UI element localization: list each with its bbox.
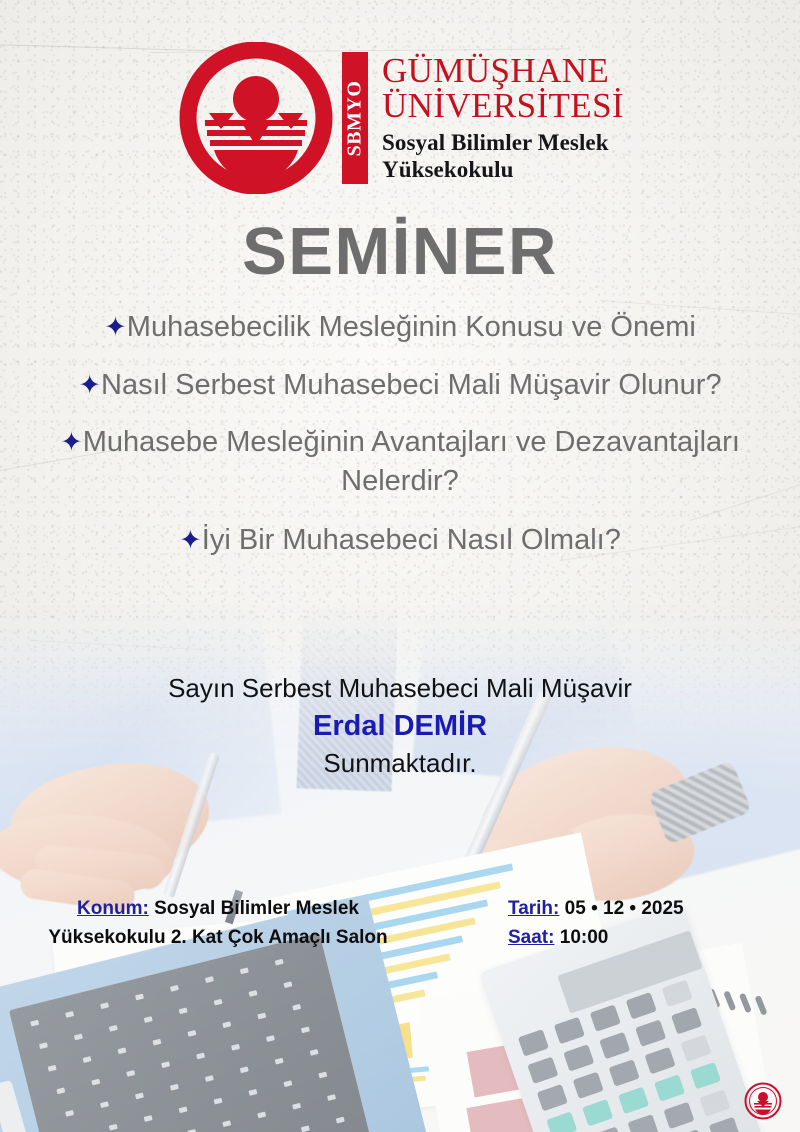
star-bullet-icon: ✦ <box>60 427 83 457</box>
sbmyo-label: SBMYO <box>343 80 366 156</box>
page-title: SEMİNER <box>0 213 800 290</box>
list-item-label: Muhasebe Mesleğinin Avantajları ve Dezav… <box>83 426 740 497</box>
time-value: 10:00 <box>560 927 609 948</box>
star-bullet-icon: ✦ <box>104 312 127 342</box>
list-item: ✦Nasıl Serbest Muhasebeci Mali Müşavir O… <box>0 366 800 405</box>
university-seal-icon <box>744 1082 782 1120</box>
faculty-line-1: Sosyal Bilimler Meslek <box>382 129 624 156</box>
location-block: Konum: Sosyal Bilimler Meslek Yüksekokul… <box>48 895 388 953</box>
list-item: ✦Muhasebe Mesleğinin Avantajları ve Deza… <box>0 423 800 500</box>
list-item: ✦Muhasebecilik Mesleğinin Konusu ve Önem… <box>0 308 800 347</box>
poster-header: SBMYO GÜMÜŞHANE ÜNİVERSİTESİ Sosyal Bili… <box>0 42 800 194</box>
time-label: Saat: <box>508 927 554 948</box>
seminar-poster: SBMYO GÜMÜŞHANE ÜNİVERSİTESİ Sosyal Bili… <box>0 0 800 1132</box>
star-bullet-icon: ✦ <box>78 370 101 400</box>
topic-list: ✦Muhasebecilik Mesleğinin Konusu ve Önem… <box>0 308 800 579</box>
sbmyo-vertical-bar: SBMYO <box>342 52 368 184</box>
time-line: Saat: 10:00 <box>508 924 788 953</box>
star-bullet-icon: ✦ <box>179 525 202 555</box>
date-label: Tarih: <box>508 898 559 919</box>
speaker-name: Erdal DEMİR <box>0 706 800 747</box>
speaker-intro: Sayın Serbest Muhasebeci Mali Müşavir <box>0 672 800 706</box>
location-line: Konum: Sosyal Bilimler Meslek Yüksekokul… <box>48 895 388 953</box>
faculty-line-2: Yüksekokulu <box>382 156 624 183</box>
gumushane-university-logo-icon <box>176 42 336 194</box>
list-item: ✦İyi Bir Muhasebeci Nasıl Olmalı? <box>0 521 800 560</box>
speaker-outro: Sunmaktadır. <box>0 747 800 781</box>
list-item-label: Nasıl Serbest Muhasebeci Mali Müşavir Ol… <box>101 369 722 401</box>
list-item-label: İyi Bir Muhasebeci Nasıl Olmalı? <box>202 524 621 556</box>
date-line: Tarih: 05 • 12 • 2025 <box>508 895 788 924</box>
speaker-block: Sayın Serbest Muhasebeci Mali Müşavir Er… <box>0 672 800 781</box>
university-line-2: ÜNİVERSİTESİ <box>382 88 624 124</box>
list-item-label: Muhasebecilik Mesleğinin Konusu ve Önemi <box>127 311 696 343</box>
university-line-1: GÜMÜŞHANE <box>382 53 624 89</box>
date-value: 05 • 12 • 2025 <box>565 898 684 919</box>
datetime-block: Tarih: 05 • 12 • 2025 Saat: 10:00 <box>508 895 788 953</box>
university-name-block: GÜMÜŞHANE ÜNİVERSİTESİ Sosyal Bilimler M… <box>382 53 624 184</box>
location-label: Konum: <box>77 898 149 919</box>
